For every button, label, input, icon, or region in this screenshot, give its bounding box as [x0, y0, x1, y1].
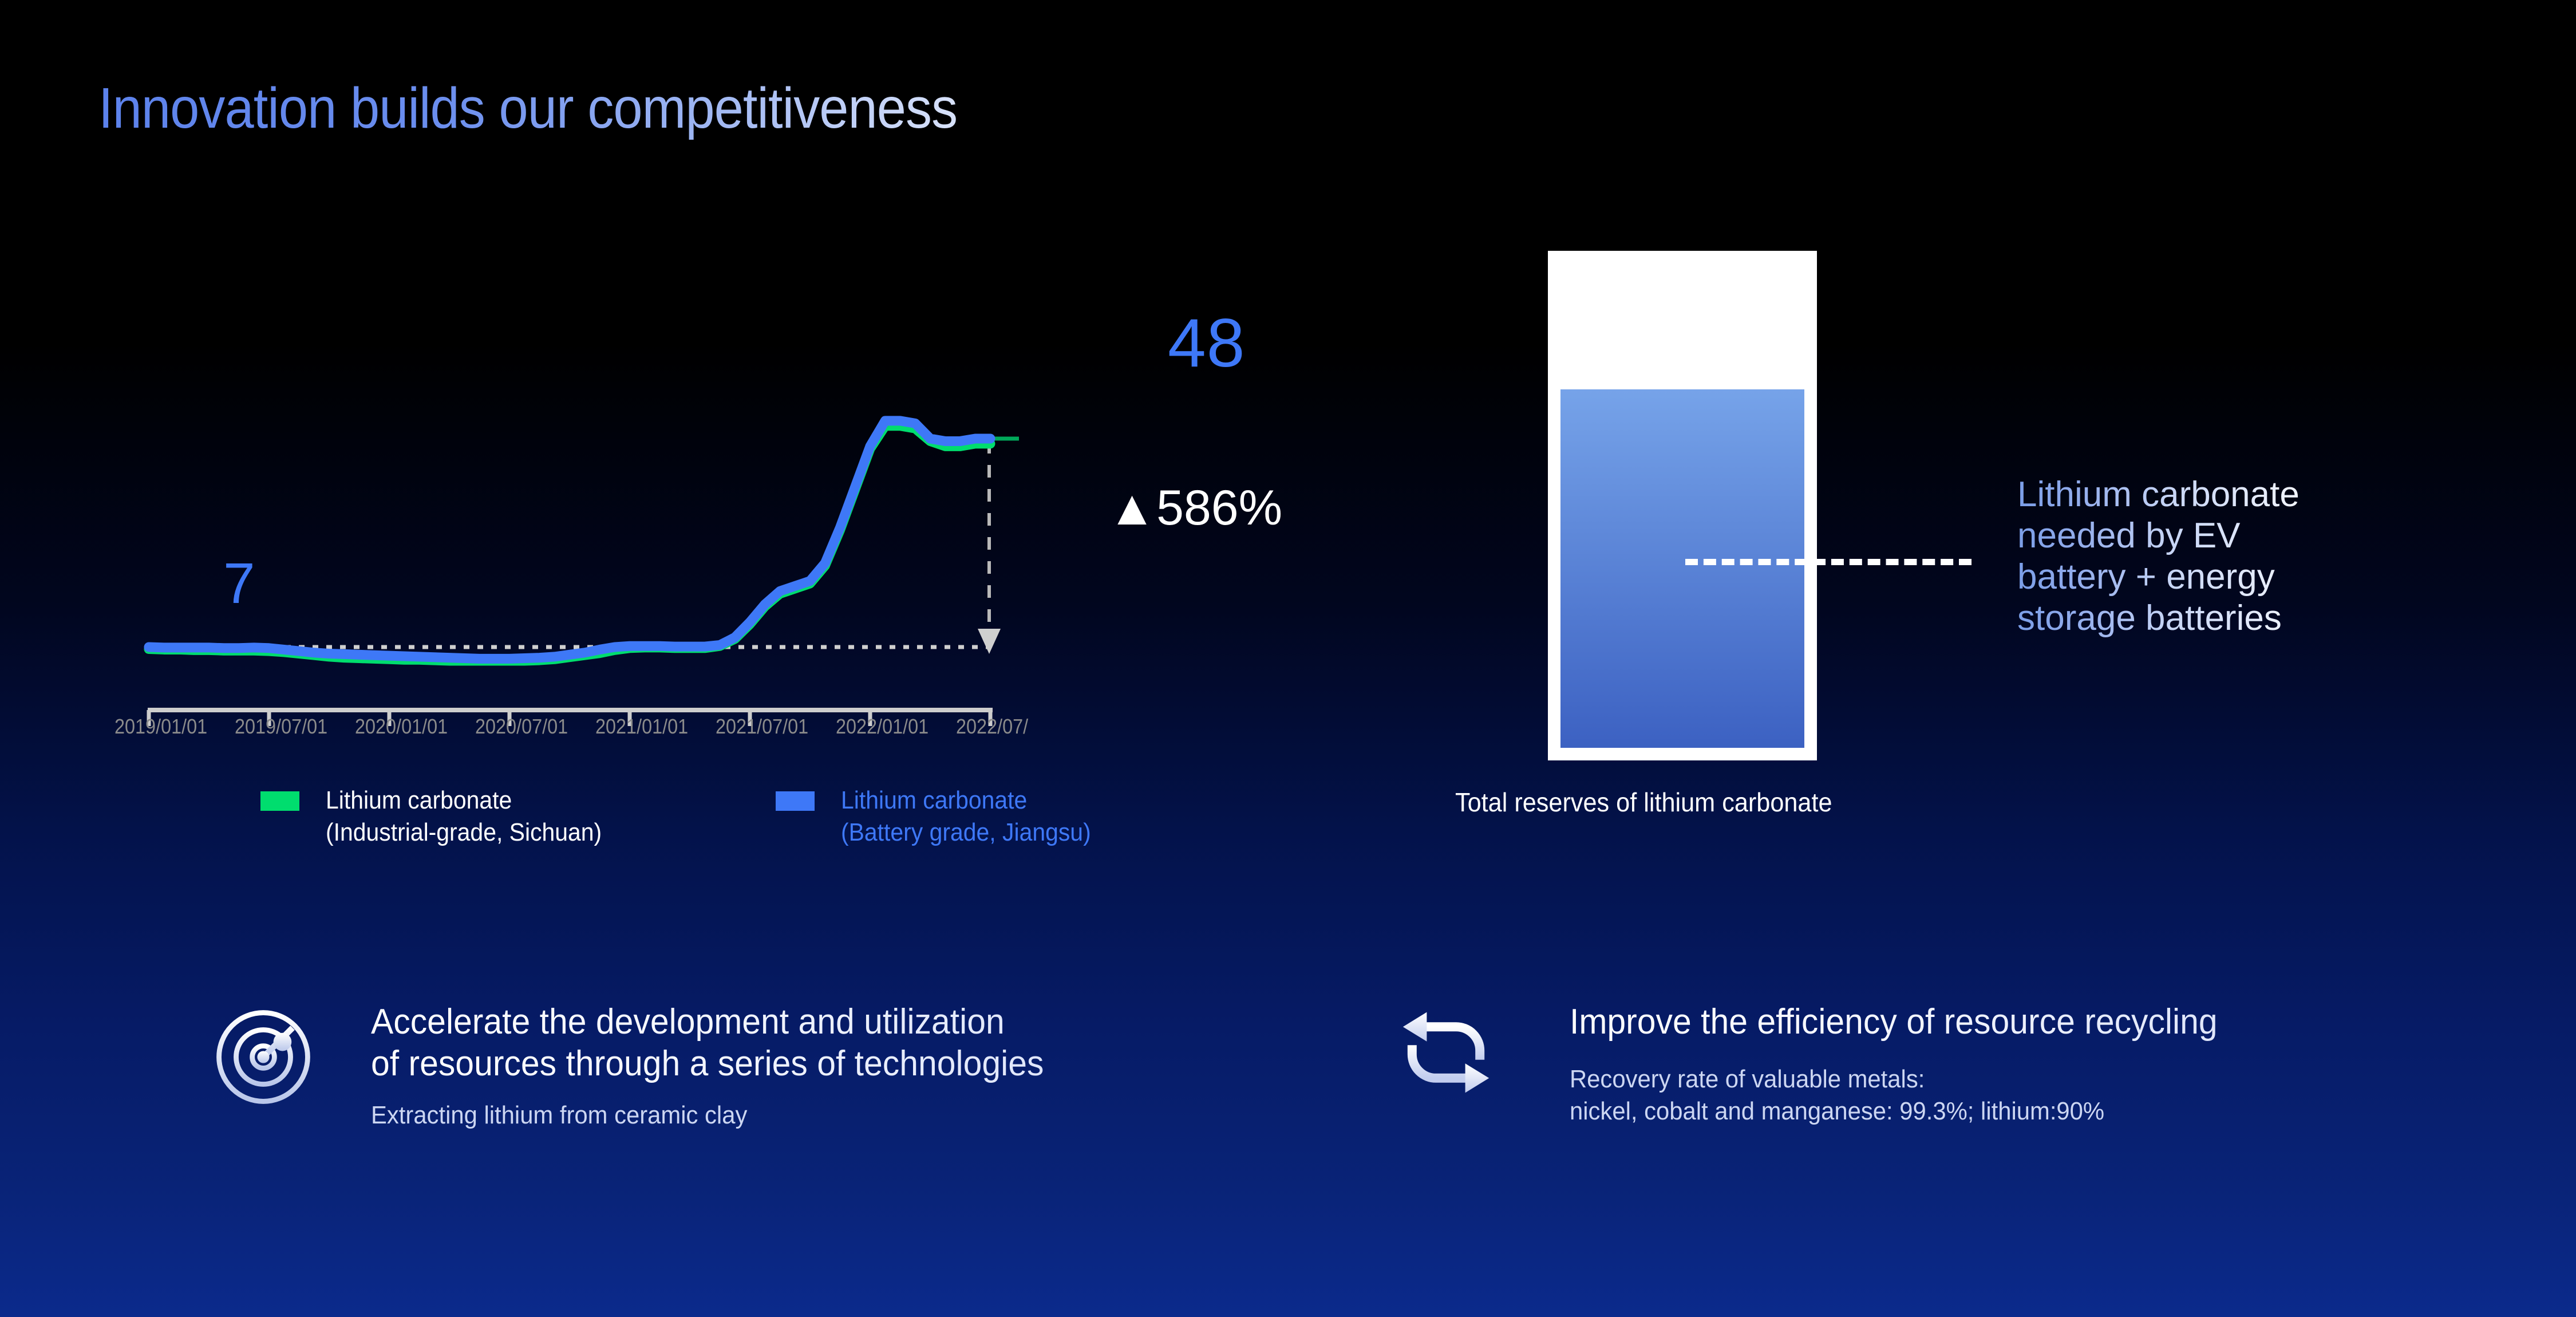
x-tick-label: 2022/01/01: [836, 715, 929, 739]
reserves-annotation: Lithium carbonate needed by EV battery +…: [2017, 474, 2300, 639]
legend-label-battery: Lithium carbonate (Battery grade, Jiangs…: [841, 784, 1091, 849]
feature-accelerate-development: Accelerate the development and utilizati…: [213, 1001, 1079, 1131]
series-line-battery: [149, 421, 990, 658]
x-tick-label: 2019/07/01: [235, 715, 327, 739]
feature-right-body: Improve the efficiency of resource recyc…: [1570, 1001, 2251, 1127]
x-tick-label: 2022/07/: [956, 715, 1028, 739]
feature-left-title: Accelerate the development and utilizati…: [371, 1001, 1044, 1085]
feature-right-title: Improve the efficiency of resource recyc…: [1570, 1001, 2218, 1043]
baseline-value-label: 7: [223, 551, 255, 617]
legend-swatch-battery: [776, 791, 815, 811]
delta-arrow-head: [978, 629, 1001, 654]
x-tick-label: 2021/07/01: [716, 715, 808, 739]
x-tick-label: 2021/01/01: [595, 715, 688, 739]
radar-target-icon: [213, 1007, 314, 1110]
x-axis-tick-labels: 2019/01/01 2019/07/01 2020/01/01 2020/07…: [143, 715, 1322, 749]
x-tick-label: 2020/01/01: [355, 715, 448, 739]
legend-label-industrial: Lithium carbonate (Industrial-grade, Sic…: [326, 784, 602, 849]
feature-left-body: Accelerate the development and utilizati…: [371, 1001, 1079, 1131]
page-title: Innovation builds our competitiveness: [98, 76, 957, 141]
reserves-pointer-dashed-line: [1685, 559, 1971, 565]
peak-value-label: 48: [1168, 303, 1245, 383]
x-tick-label: 2019/01/01: [114, 715, 207, 739]
reserves-caption: Total reserves of lithium carbonate: [1455, 787, 1832, 818]
percent-change-label: ▲586%: [1108, 480, 1282, 537]
recycle-loop-icon: [1396, 1007, 1496, 1101]
slide-root: Innovation builds our competitiveness: [0, 0, 2576, 1317]
feature-resource-recycling: Improve the efficiency of resource recyc…: [1396, 1001, 2251, 1127]
x-tick-label: 2020/07/01: [475, 715, 568, 739]
legend-item-industrial[interactable]: Lithium carbonate (Industrial-grade, Sic…: [260, 784, 622, 849]
legend-swatch-industrial: [260, 791, 299, 811]
feature-right-subtitle: Recovery rate of valuable metals: nickel…: [1570, 1063, 2218, 1127]
feature-left-subtitle: Extracting lithium from ceramic clay: [371, 1099, 1044, 1131]
reserves-fill-level: [1560, 389, 1804, 748]
legend-item-battery[interactable]: Lithium carbonate (Battery grade, Jiangs…: [776, 784, 1110, 849]
reserves-container: [1548, 251, 1817, 760]
